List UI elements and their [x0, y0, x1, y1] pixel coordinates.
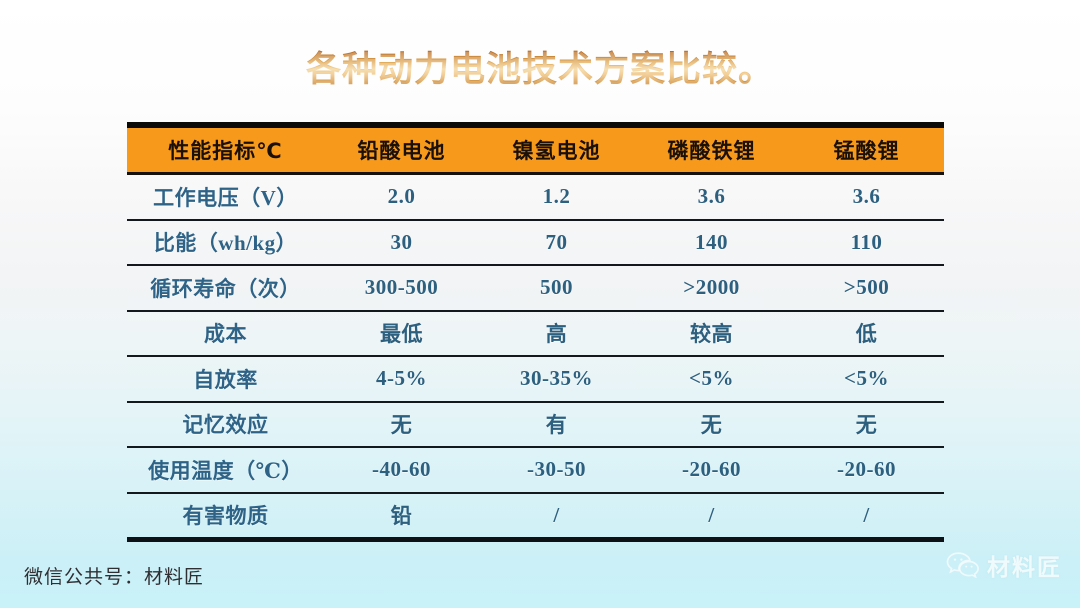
column-header-metric: 性能指标℃	[127, 125, 324, 174]
table-row: 有害物质 铅 / / /	[127, 493, 944, 540]
table-header-row: 性能指标℃ 铅酸电池 镍氢电池 磷酸铁锂 锰酸锂	[127, 125, 944, 174]
table-body: 工作电压（V） 2.0 1.2 3.6 3.6 比能（wh/kg） 30 70 …	[127, 174, 944, 540]
table-row: 自放率 4-5% 30-35% <5% <5%	[127, 356, 944, 402]
cell-value: 无	[634, 402, 789, 448]
cell-value: 低	[789, 311, 944, 357]
cell-value: -20-60	[789, 447, 944, 493]
row-label: 记忆效应	[127, 402, 324, 448]
cell-value: 2.0	[324, 174, 479, 220]
cell-value: 110	[789, 220, 944, 266]
cell-value: 500	[479, 265, 634, 311]
cell-value: -30-50	[479, 447, 634, 493]
cell-value: 铅	[324, 493, 479, 540]
column-header-lead-acid: 铅酸电池	[324, 125, 479, 174]
cell-value: 4-5%	[324, 356, 479, 402]
page-title: 各种动力电池技术方案比较。	[0, 48, 1080, 92]
battery-comparison-table: 性能指标℃ 铅酸电池 镍氢电池 磷酸铁锂 锰酸锂 工作电压（V） 2.0 1.2…	[127, 122, 944, 542]
watermark: 材料匠	[946, 548, 1062, 582]
table-row: 使用温度（℃） -40-60 -30-50 -20-60 -20-60	[127, 447, 944, 493]
cell-value: 30-35%	[479, 356, 634, 402]
wechat-icon	[946, 552, 980, 578]
cell-value: /	[789, 493, 944, 540]
cell-value: 无	[789, 402, 944, 448]
row-label: 使用温度（℃）	[127, 447, 324, 493]
cell-value: -40-60	[324, 447, 479, 493]
cell-value: >500	[789, 265, 944, 311]
cell-value: /	[479, 493, 634, 540]
cell-value: 最低	[324, 311, 479, 357]
cell-value: -20-60	[634, 447, 789, 493]
comparison-table-container: 性能指标℃ 铅酸电池 镍氢电池 磷酸铁锂 锰酸锂 工作电压（V） 2.0 1.2…	[127, 122, 944, 542]
cell-value: 较高	[634, 311, 789, 357]
row-label: 比能（wh/kg）	[127, 220, 324, 266]
column-header-lifepo4: 磷酸铁锂	[634, 125, 789, 174]
table-row: 工作电压（V） 2.0 1.2 3.6 3.6	[127, 174, 944, 220]
footer-note: 微信公共号：材料匠	[24, 562, 204, 589]
cell-value: 无	[324, 402, 479, 448]
cell-value: 有	[479, 402, 634, 448]
table-row: 循环寿命（次） 300-500 500 >2000 >500	[127, 265, 944, 311]
cell-value: /	[634, 493, 789, 540]
cell-value: 300-500	[324, 265, 479, 311]
cell-value: 140	[634, 220, 789, 266]
table-row: 记忆效应 无 有 无 无	[127, 402, 944, 448]
row-label: 有害物质	[127, 493, 324, 540]
row-label: 循环寿命（次）	[127, 265, 324, 311]
cell-value: <5%	[789, 356, 944, 402]
cell-value: <5%	[634, 356, 789, 402]
table-row: 成本 最低 高 较高 低	[127, 311, 944, 357]
cell-value: 高	[479, 311, 634, 357]
cell-value: >2000	[634, 265, 789, 311]
cell-value: 1.2	[479, 174, 634, 220]
table-header: 性能指标℃ 铅酸电池 镍氢电池 磷酸铁锂 锰酸锂	[127, 125, 944, 174]
column-header-lmo: 锰酸锂	[789, 125, 944, 174]
row-label: 成本	[127, 311, 324, 357]
row-label: 工作电压（V）	[127, 174, 324, 220]
cell-value: 30	[324, 220, 479, 266]
cell-value: 3.6	[789, 174, 944, 220]
watermark-label: 材料匠	[987, 548, 1062, 582]
cell-value: 3.6	[634, 174, 789, 220]
column-header-nimh: 镍氢电池	[479, 125, 634, 174]
cell-value: 70	[479, 220, 634, 266]
row-label: 自放率	[127, 356, 324, 402]
table-row: 比能（wh/kg） 30 70 140 110	[127, 220, 944, 266]
